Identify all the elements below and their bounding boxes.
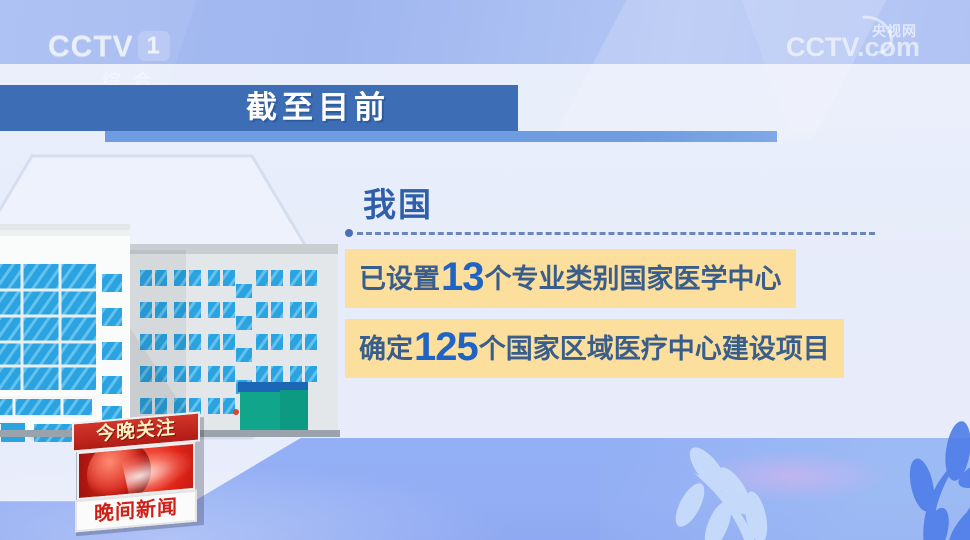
headline-underbar <box>105 131 777 142</box>
stat-number: 13 <box>440 255 485 299</box>
stat-item: 已设置13个专业类别国家医学中心 <box>345 249 796 308</box>
cctv1-channel-logo: CCTV1 综合 <box>48 30 208 92</box>
main-content: 我国 已设置13个专业类别国家医学中心 确定125个国家区域医疗中心建设项目 <box>345 186 945 378</box>
stat-number: 125 <box>413 325 479 369</box>
stat-prefix: 已设置 <box>359 264 440 294</box>
channel-number: 1 <box>138 31 170 61</box>
building-graphic <box>0 192 340 442</box>
stat-list: 已设置13个专业类别国家医学中心 确定125个国家区域医疗中心建设项目 <box>345 240 945 378</box>
cctv-text: CCTV <box>48 30 134 63</box>
subject-label: 我国 <box>363 186 945 224</box>
headline-banner: 截至目前 <box>0 85 518 131</box>
cctv-wordmark: CCTV1 <box>48 30 208 64</box>
broadcast-screen: CCTV1 综合 央视网 CCTV.com 截至目前 <box>0 0 970 540</box>
divider <box>345 226 945 240</box>
headline-title: 截至目前 <box>246 85 518 131</box>
background-pink-glow <box>690 450 890 502</box>
program-logo: 今晚关注 晚间新闻 <box>72 411 200 532</box>
hospital-building-illustration <box>0 152 340 442</box>
divider-dot <box>345 229 353 237</box>
stat-prefix: 确定 <box>359 334 413 364</box>
stat-suffix: 个国家区域医疗中心建设项目 <box>479 334 830 364</box>
stat-item: 确定125个国家区域医疗中心建设项目 <box>345 319 844 378</box>
cctv-com-watermark: 央视网 CCTV.com <box>786 33 920 61</box>
divider-dashed-line <box>357 232 875 235</box>
watermark-chinese-label: 央视网 <box>872 21 917 41</box>
stat-suffix: 个专业类别国家医学中心 <box>485 264 782 294</box>
